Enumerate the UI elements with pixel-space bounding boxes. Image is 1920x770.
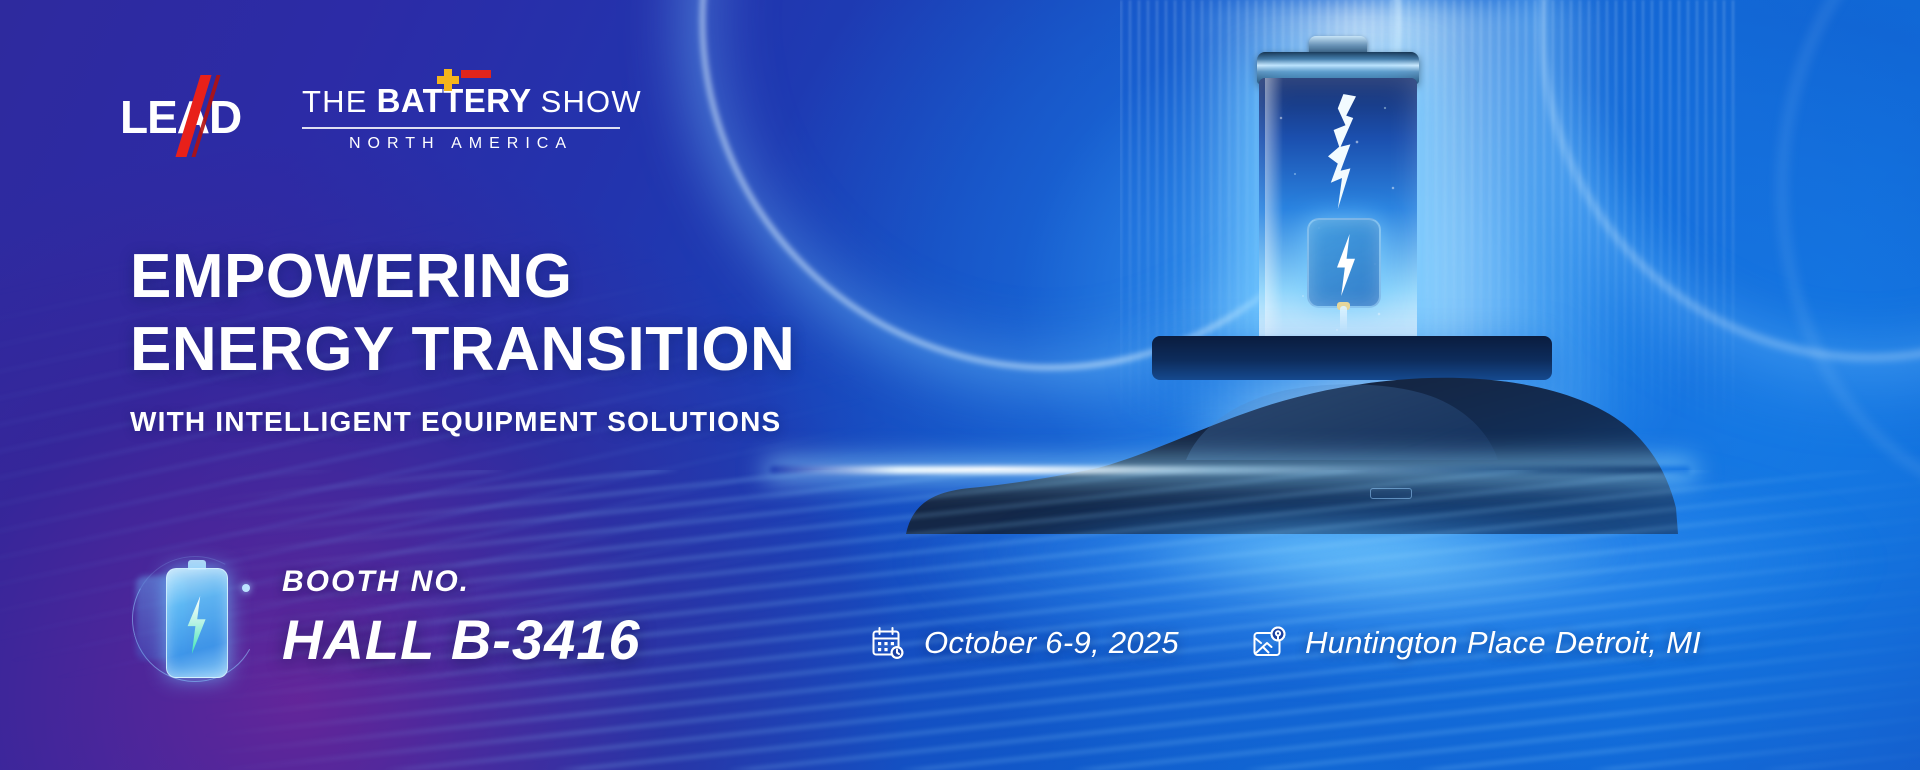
event-date-text: October 6-9, 2025	[924, 625, 1179, 661]
battery-show-battery: BATTERY	[377, 82, 532, 120]
map-pin-icon	[1251, 625, 1287, 661]
display-podium	[1152, 336, 1552, 380]
headline-subtitle: WITH INTELLIGENT EQUIPMENT SOLUTIONS	[130, 406, 795, 438]
red-dash-icon	[461, 70, 491, 78]
event-location: Huntington Place Detroit, MI	[1251, 625, 1701, 661]
booth-number: HALL B-3416	[282, 607, 641, 672]
yellow-plus-icon	[437, 69, 459, 91]
event-date: October 6-9, 2025	[870, 625, 1179, 661]
charging-plug-icon	[1307, 218, 1381, 308]
plug-bolt-icon	[1331, 234, 1361, 296]
booth-label: BOOTH NO.	[282, 565, 641, 599]
battery-bolt-icon	[130, 538, 252, 698]
event-meta: October 6-9, 2025 Huntington Place Detro…	[870, 625, 1701, 661]
battery-show-wordmark: THE BATTERY SHOW	[302, 82, 620, 120]
headline-block: EMPOWERING ENERGY TRANSITION WITH INTELL…	[130, 240, 795, 438]
battery-show-the: THE	[302, 84, 368, 120]
headline-line-2: ENERGY TRANSITION	[130, 313, 795, 386]
logo-row: LEAD THE BATTERY SHOW NORTH AMERICA	[120, 82, 620, 153]
battery-cell-graphic	[1248, 36, 1428, 356]
lead-logo[interactable]: LEAD	[120, 91, 250, 143]
calendar-clock-icon	[870, 625, 906, 661]
light-arc-far	[1780, 0, 1920, 500]
event-location-text: Huntington Place Detroit, MI	[1305, 625, 1701, 661]
battery-body	[1259, 78, 1417, 350]
battery-show-show: SHOW	[541, 84, 642, 120]
battery-show-region: NORTH AMERICA	[302, 135, 620, 153]
booth-block: BOOTH NO. HALL B-3416	[130, 538, 641, 698]
headline-line-1: EMPOWERING	[130, 240, 795, 313]
booth-text: BOOTH NO. HALL B-3416	[282, 565, 641, 672]
orbit-dot	[242, 584, 250, 592]
logo-divider	[302, 127, 620, 129]
battery-show-logo[interactable]: THE BATTERY SHOW NORTH AMERICA	[302, 82, 620, 153]
promo-banner: LEAD THE BATTERY SHOW NORTH AMERICA EMPO…	[0, 0, 1920, 770]
